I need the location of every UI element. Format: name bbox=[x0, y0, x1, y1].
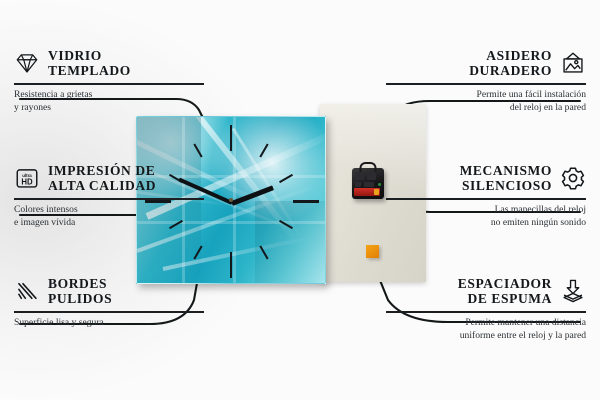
feature-desc: Superficie lisa y segura bbox=[14, 317, 204, 330]
feature-mecanismo-silencioso: MECANISMO SILENCIOSO Las manecillas del … bbox=[386, 163, 586, 229]
svg-text:HD: HD bbox=[21, 178, 33, 187]
feature-desc-line2: uniforme entre el reloj y la pared bbox=[386, 330, 586, 343]
feature-title-line1: IMPRESIÓN DE bbox=[48, 163, 156, 178]
feature-desc-line2: del reloj en la pared bbox=[386, 102, 586, 115]
feature-espaciador-de-espuma: ESPACIADOR DE ESPUMA Permite mantener un… bbox=[386, 276, 586, 342]
feature-desc-line1: Resistencia a grietas bbox=[14, 89, 204, 102]
feature-desc-line1: Permite mantener una distancia bbox=[386, 317, 586, 330]
gear-icon bbox=[560, 165, 586, 191]
feature-rule bbox=[386, 83, 586, 85]
feature-desc: Colores intensos e imagen vívida bbox=[14, 204, 204, 230]
feature-title-line1: ESPACIADOR bbox=[458, 276, 552, 291]
feature-impresion-alta-calidad: ultra HD IMPRESIÓN DE ALTA CALIDAD Color… bbox=[14, 163, 204, 229]
feature-desc: Resistencia a grietas y rayones bbox=[14, 89, 204, 115]
feature-desc: Permite una fácil instalación del reloj … bbox=[386, 89, 586, 115]
feature-desc-line2: y rayones bbox=[14, 102, 204, 115]
feature-desc-line1: Las manecillas del reloj bbox=[386, 204, 586, 217]
feature-desc-line1: Permite una fácil instalación bbox=[386, 89, 586, 102]
feature-title-line2: TEMPLADO bbox=[48, 63, 131, 78]
hour-tick bbox=[230, 125, 232, 151]
mechanism-detail bbox=[367, 172, 376, 180]
clock-mechanism bbox=[352, 168, 384, 199]
feature-title-line1: MECANISMO bbox=[460, 163, 552, 178]
feature-title-line1: VIDRIO bbox=[48, 48, 131, 63]
mechanism-indicator bbox=[378, 183, 381, 186]
polished-edges-icon bbox=[14, 278, 40, 304]
feature-title-line1: ASIDERO bbox=[469, 48, 552, 63]
feature-rule bbox=[386, 198, 586, 200]
feature-desc-line1: Colores intensos bbox=[14, 204, 204, 217]
picture-frame-hanger-icon bbox=[560, 50, 586, 76]
feature-title-line1: BORDES bbox=[48, 276, 112, 291]
feature-bordes-pulidos: BORDES PULIDOS Superficie lisa y segura bbox=[14, 276, 204, 330]
hour-tick bbox=[259, 144, 268, 158]
feature-asidero-duradero: ASIDERO DURADERO Permite una fácil insta… bbox=[386, 48, 586, 114]
mechanism-detail bbox=[355, 172, 364, 180]
feature-title-line2: ALTA CALIDAD bbox=[48, 178, 156, 193]
clock-center-pin bbox=[229, 198, 233, 202]
battery bbox=[354, 188, 380, 196]
hour-tick bbox=[230, 252, 232, 278]
feature-desc-line1: Superficie lisa y segura bbox=[14, 317, 204, 330]
arrow-down-layers-icon bbox=[560, 278, 586, 304]
feature-desc: Las manecillas del reloj no emiten ningú… bbox=[386, 204, 586, 230]
foam-spacer bbox=[366, 245, 379, 258]
feature-rule bbox=[14, 311, 204, 313]
mechanism-detail bbox=[355, 182, 361, 187]
diamond-icon bbox=[14, 50, 40, 76]
mechanism-detail bbox=[364, 182, 374, 187]
feature-title-line2: SILENCIOSO bbox=[460, 178, 552, 193]
feature-title-line2: DE ESPUMA bbox=[458, 291, 552, 306]
feature-vidrio-templado: VIDRIO TEMPLADO Resistencia a grietas y … bbox=[14, 48, 204, 114]
ultra-hd-badge-icon: ultra HD bbox=[14, 165, 40, 191]
feature-title-line2: DURADERO bbox=[469, 63, 552, 78]
infographic-canvas: VIDRIO TEMPLADO Resistencia a grietas y … bbox=[0, 0, 600, 400]
feature-desc-line2: e imagen vívida bbox=[14, 217, 204, 230]
hour-tick bbox=[293, 200, 319, 203]
feature-desc: Permite mantener una distancia uniforme … bbox=[386, 317, 586, 343]
feature-rule bbox=[14, 198, 204, 200]
feature-desc-line2: no emiten ningún sonido bbox=[386, 217, 586, 230]
feature-title-line2: PULIDOS bbox=[48, 291, 112, 306]
feature-rule bbox=[386, 311, 586, 313]
feature-rule bbox=[14, 83, 204, 85]
